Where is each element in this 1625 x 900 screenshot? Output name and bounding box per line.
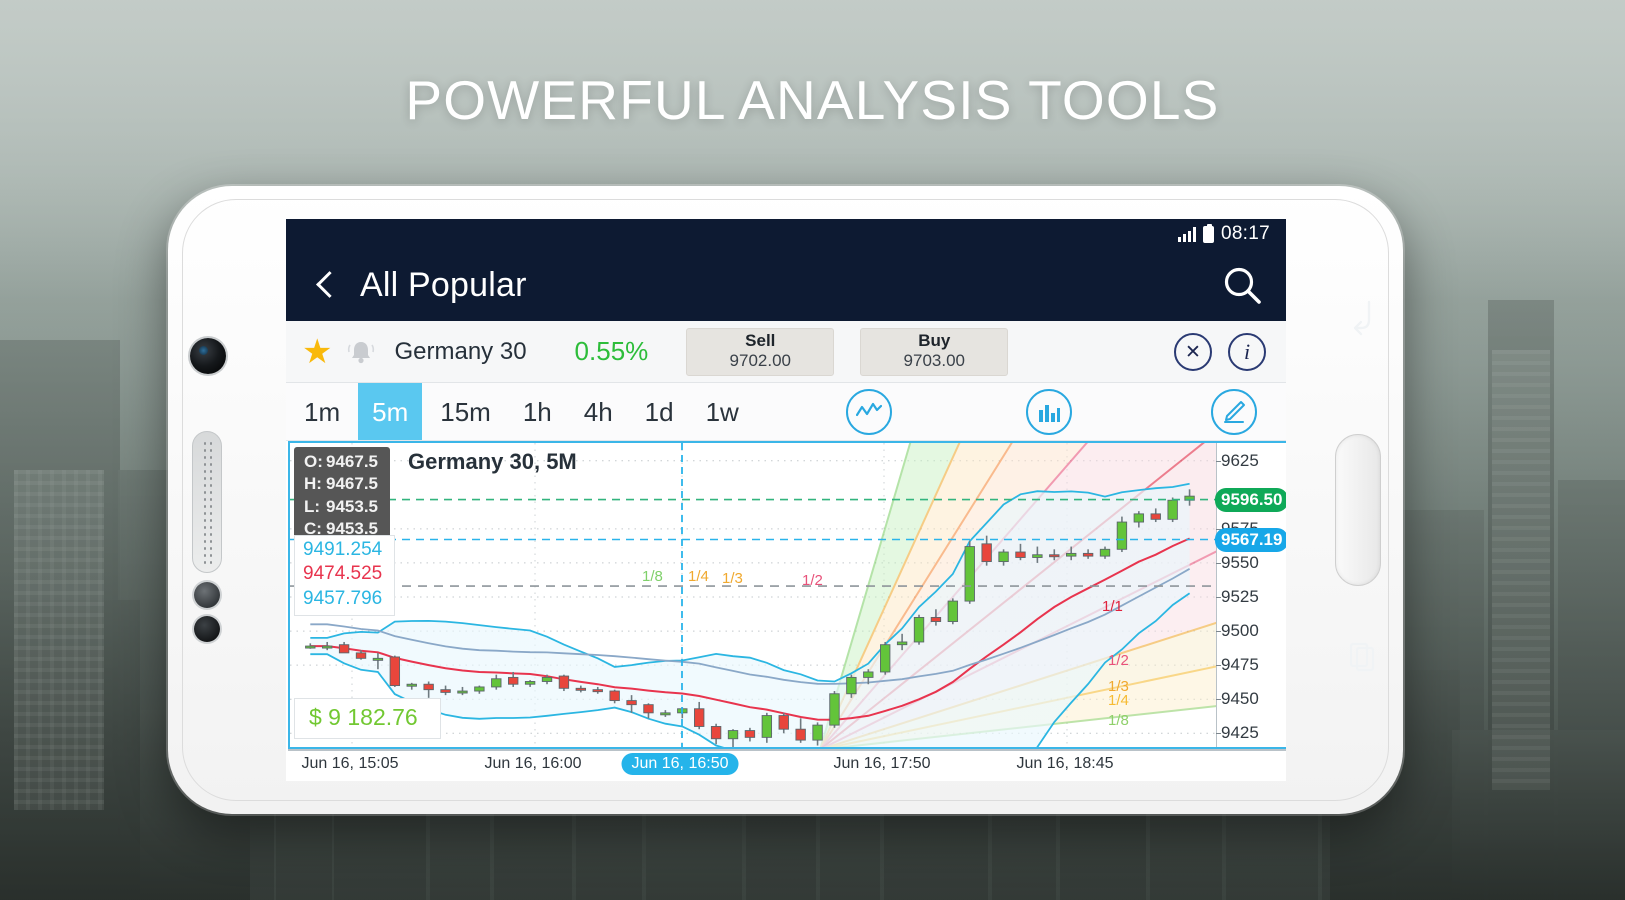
svg-text:1/3: 1/3 — [722, 570, 743, 587]
sell-label: Sell — [745, 332, 775, 350]
indicator-value-upper: 9491.254 — [303, 538, 382, 562]
svg-text:1/8: 1/8 — [1108, 712, 1129, 729]
ohlc-tooltip: O:9467.5 H:9467.5 L:9453.5 C:9453.5 — [294, 447, 390, 547]
price-tick: 9450 — [1221, 689, 1259, 709]
timeframe-1h[interactable]: 1h — [509, 391, 566, 433]
price-axis[interactable]: 9625 9575 9550 9525 9500 9475 9450 9425 … — [1216, 443, 1286, 747]
timeframe-1d[interactable]: 1d — [631, 391, 688, 433]
sell-button[interactable]: Sell 9702.00 — [686, 328, 834, 376]
account-balance: $ 9 182.76 — [294, 698, 441, 739]
time-tick: Jun 16, 16:00 — [485, 755, 582, 773]
bell-icon[interactable] — [346, 338, 376, 366]
svg-text:1/4: 1/4 — [688, 568, 709, 585]
timeframe-15m[interactable]: 15m — [426, 391, 505, 433]
time-tick: Jun 16, 15:05 — [302, 755, 399, 773]
ohlc-low-value: 9453.5 — [326, 497, 378, 516]
status-clock: 08:17 — [1221, 223, 1270, 245]
page-title: POWERFUL ANALYSIS TOOLS — [0, 68, 1625, 132]
ohlc-high-label: H: — [304, 473, 326, 495]
time-tick-highlighted: Jun 16, 16:50 — [622, 753, 739, 775]
svg-text:1/8: 1/8 — [642, 568, 663, 585]
buy-label: Buy — [918, 332, 950, 350]
svg-text:1/1: 1/1 — [1102, 598, 1123, 615]
app-navigation-bar: All Popular — [286, 249, 1286, 321]
ohlc-open-label: O: — [304, 451, 326, 473]
price-tick: 9525 — [1221, 587, 1259, 607]
back-chevron-icon[interactable] — [308, 268, 342, 302]
ohlc-low-label: L: — [304, 496, 326, 518]
star-icon[interactable]: ★ — [302, 335, 332, 369]
price-tick: 9550 — [1221, 553, 1259, 573]
search-icon[interactable] — [1220, 263, 1264, 307]
last-price-badge: 9596.50 — [1215, 488, 1286, 512]
status-bar: 08:17 — [286, 219, 1286, 249]
earpiece-speaker — [192, 431, 222, 573]
line-chart-icon[interactable] — [846, 389, 892, 435]
bar-chart-icon[interactable] — [1026, 389, 1072, 435]
price-tick: 9425 — [1221, 723, 1259, 743]
chart-plot-frame[interactable]: 1/81/41/31/21/11/21/31/41/8 Germany 30, … — [288, 441, 1286, 749]
front-camera-icon — [190, 338, 226, 374]
indicator-value-middle: 9474.525 — [303, 562, 382, 586]
instrument-bar: ★ Germany 30 0.55% Sell 9702.00 Buy 9703… — [286, 321, 1286, 383]
time-tick: Jun 16, 18:45 — [1017, 755, 1114, 773]
indicator-value-lower: 9457.796 — [303, 587, 382, 611]
proximity-sensor-icon — [194, 582, 220, 608]
time-axis[interactable]: Jun 16, 15:05 Jun 16, 16:00 Jun 16, 16:5… — [288, 749, 1286, 781]
indicator-values-box: 9491.254 9474.525 9457.796 — [294, 535, 395, 616]
time-tick: Jun 16, 17:50 — [834, 755, 931, 773]
info-icon[interactable]: i — [1228, 333, 1266, 371]
price-tick: 9500 — [1221, 621, 1259, 641]
sell-price: 9702.00 — [730, 350, 791, 371]
chart-plot-area[interactable]: 1/81/41/31/21/11/21/31/41/8 Germany 30, … — [290, 443, 1216, 747]
change-percent: 0.55% — [575, 336, 649, 367]
home-button[interactable] — [1335, 434, 1381, 586]
svg-text:1/2: 1/2 — [1108, 652, 1129, 669]
timeframe-5m[interactable]: 5m — [358, 383, 422, 440]
timeframe-4h[interactable]: 4h — [570, 391, 627, 433]
bid-price-badge: 9567.19 — [1215, 528, 1286, 552]
signal-bars-icon — [1178, 226, 1196, 242]
ohlc-open-value: 9467.5 — [326, 452, 378, 471]
chart-container[interactable]: 1/81/41/31/21/11/21/31/41/8 Germany 30, … — [286, 441, 1286, 781]
timeframe-1m[interactable]: 1m — [290, 391, 354, 433]
buy-button[interactable]: Buy 9703.00 — [860, 328, 1008, 376]
back-softkey-icon[interactable] — [1347, 296, 1377, 336]
phone-screen: 08:17 All Popular ★ — [286, 219, 1286, 781]
chart-title: Germany 30, 5M — [408, 449, 577, 475]
pencil-draw-icon[interactable] — [1211, 389, 1257, 435]
svg-text:1/2: 1/2 — [802, 572, 823, 589]
nav-title: All Popular — [360, 266, 527, 305]
close-x-icon[interactable]: ✕ — [1174, 333, 1212, 371]
price-tick: 9625 — [1221, 451, 1259, 471]
battery-icon — [1203, 226, 1214, 243]
price-tick: 9475 — [1221, 655, 1259, 675]
recents-softkey-icon[interactable] — [1347, 638, 1377, 674]
ohlc-high-value: 9467.5 — [326, 474, 378, 493]
buy-price: 9703.00 — [904, 350, 965, 371]
timeframe-1w[interactable]: 1w — [692, 391, 753, 433]
instrument-name: Germany 30 — [394, 338, 526, 366]
timeframe-bar: 1m 5m 15m 1h 4h 1d 1w — [286, 383, 1286, 441]
phone-device-mockup: 08:17 All Popular ★ — [168, 186, 1403, 814]
light-sensor-icon — [194, 616, 220, 642]
svg-text:1/4: 1/4 — [1108, 692, 1129, 709]
